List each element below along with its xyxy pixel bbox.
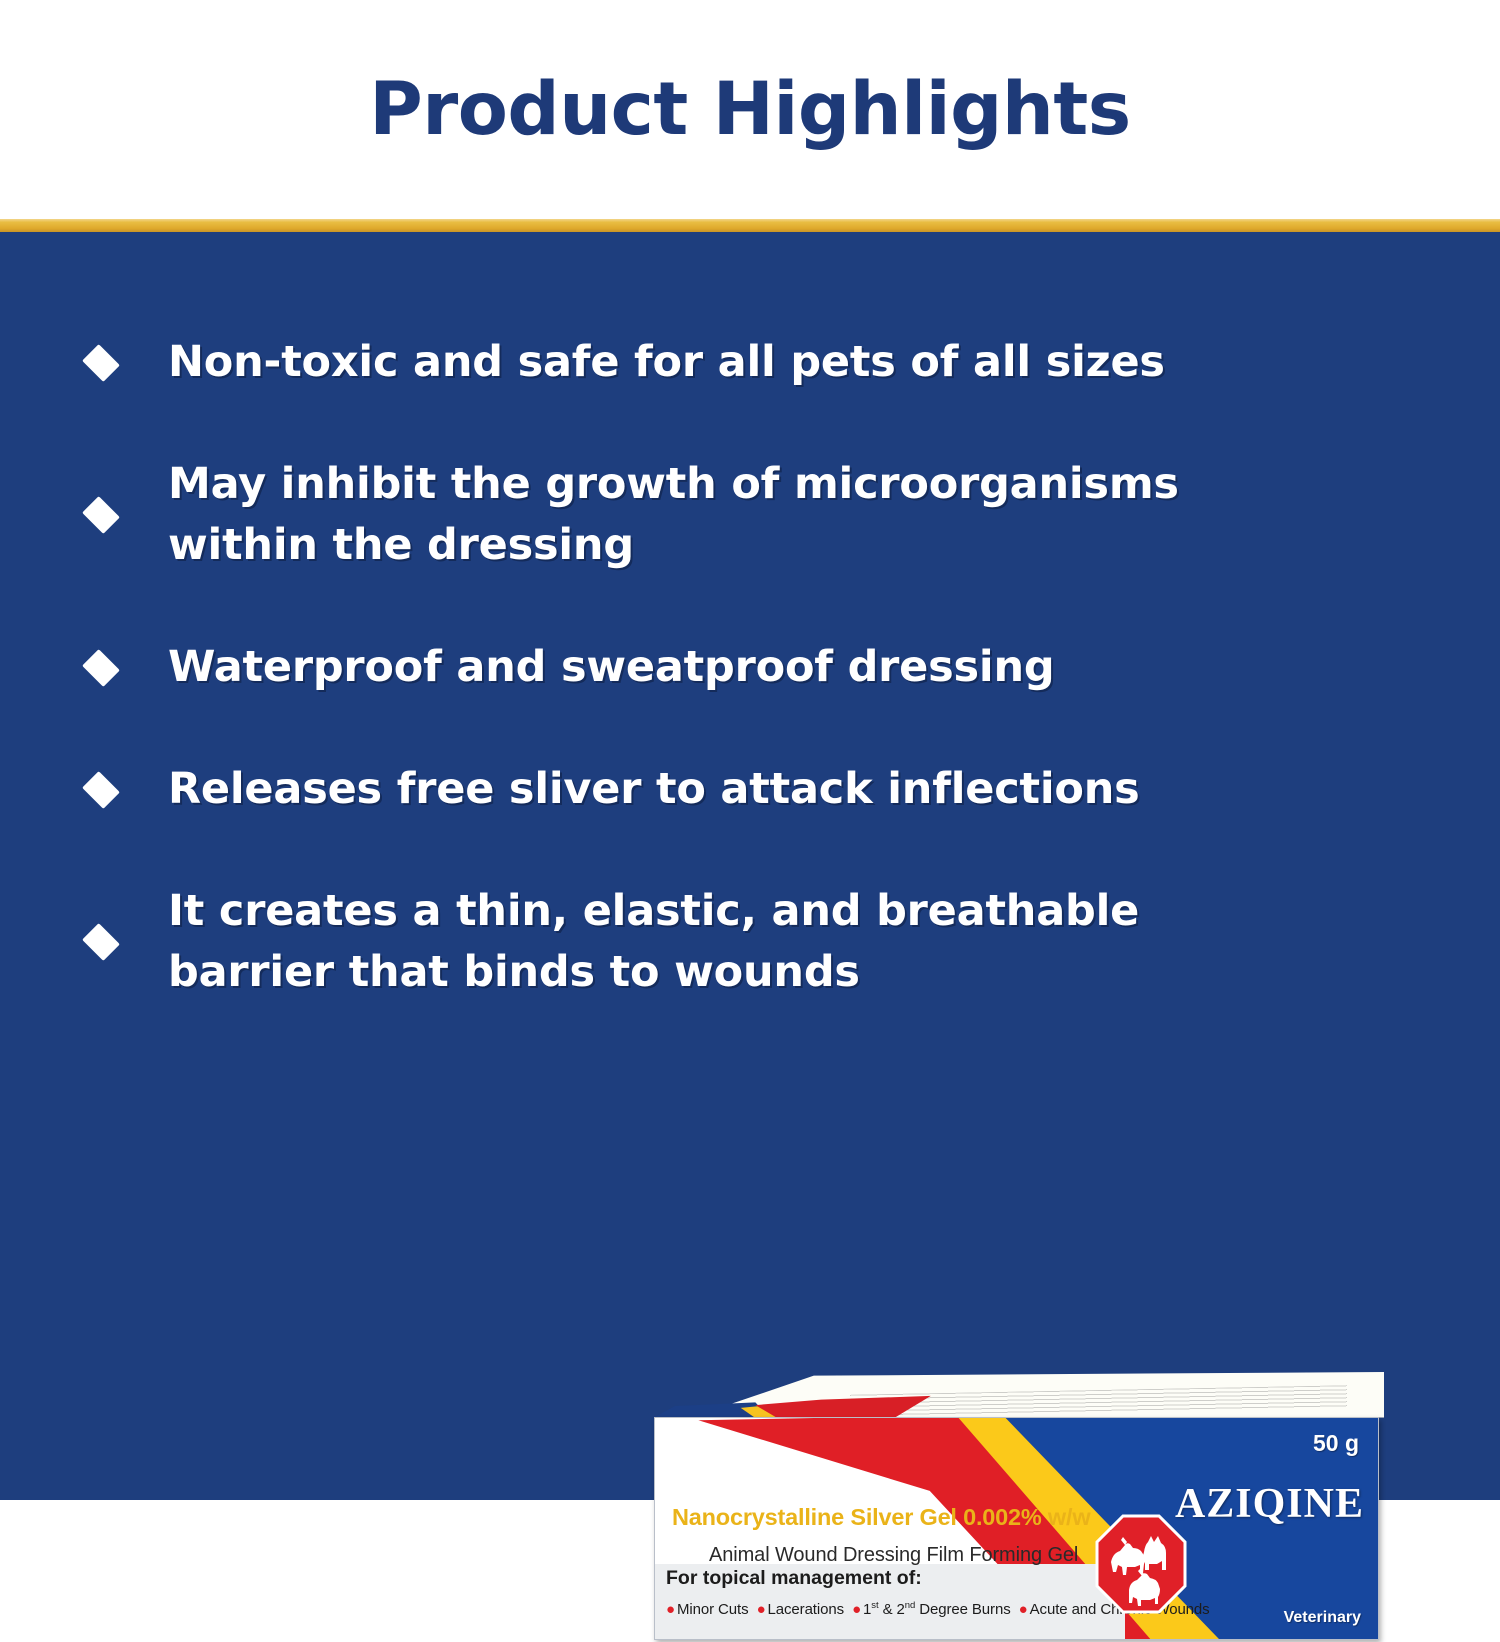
animal-emblem-icon xyxy=(1095,1514,1187,1614)
package-front-face: Nanocrystalline Silver Gel 0.002% w/w An… xyxy=(654,1417,1379,1640)
indication-label: Minor Cuts xyxy=(677,1601,749,1618)
package-category-label: Veterinary xyxy=(1284,1609,1361,1627)
highlight-line: May inhibit the growth of microorganisms xyxy=(168,454,1179,515)
highlight-line: barrier that binds to wounds xyxy=(168,942,1139,1003)
bullet-dot-icon: ● xyxy=(1015,1601,1030,1618)
diamond-bullet-icon xyxy=(82,496,120,534)
page-title: Product Highlights xyxy=(369,73,1130,146)
highlight-line: Non-toxic and safe for all pets of all s… xyxy=(168,332,1165,393)
highlights-list: Non-toxic and safe for all pets of all s… xyxy=(86,332,1386,1003)
bullet-dot-icon: ● xyxy=(666,1601,677,1618)
package-brand-name: AZIQINE xyxy=(1175,1480,1364,1528)
package-net-weight: 50 g xyxy=(1313,1430,1359,1457)
gold-divider xyxy=(0,219,1500,232)
highlights-panel: Non-toxic and safe for all pets of all s… xyxy=(0,232,1500,1500)
highlight-text: Waterproof and sweatproof dressing xyxy=(168,637,1054,698)
highlight-line: within the dressing xyxy=(168,515,1179,576)
diamond-bullet-icon xyxy=(82,771,120,809)
package-ingredient-text: Nanocrystalline Silver Gel 0.002% w/w xyxy=(672,1504,1090,1531)
highlight-text: It creates a thin, elastic, and breathab… xyxy=(168,881,1139,1003)
highlight-text: Non-toxic and safe for all pets of all s… xyxy=(168,332,1165,393)
package-top-face xyxy=(653,1372,1384,1418)
package-subtitle-text: Animal Wound Dressing Film Forming Gel xyxy=(709,1544,1078,1567)
highlight-text: Releases free sliver to attack inflectio… xyxy=(168,759,1140,820)
infographic-page: Product Highlights Non-toxic and safe fo… xyxy=(0,0,1500,1500)
package-topical-heading: For topical management of: xyxy=(666,1567,922,1590)
diamond-bullet-icon xyxy=(82,344,120,382)
list-item: Releases free sliver to attack inflectio… xyxy=(86,759,1386,820)
indication-item: ●1st & 2nd Degree Burns xyxy=(848,1601,1011,1618)
highlight-line: It creates a thin, elastic, and breathab… xyxy=(168,881,1139,942)
bullet-dot-icon: ● xyxy=(848,1601,863,1618)
diamond-bullet-icon xyxy=(82,923,120,961)
indication-label: 1st & 2nd Degree Burns xyxy=(863,1601,1011,1618)
indication-label: Lacerations xyxy=(768,1601,844,1618)
indication-item: ●Lacerations xyxy=(753,1601,844,1618)
bullet-dot-icon: ● xyxy=(753,1601,768,1618)
list-item: It creates a thin, elastic, and breathab… xyxy=(86,881,1386,1003)
diamond-bullet-icon xyxy=(82,649,120,687)
highlight-line: Waterproof and sweatproof dressing xyxy=(168,637,1054,698)
highlight-text: May inhibit the growth of microorganisms… xyxy=(168,454,1179,576)
indication-item: ●Minor Cuts xyxy=(666,1601,749,1618)
list-item: Non-toxic and safe for all pets of all s… xyxy=(86,332,1386,393)
header-band: Product Highlights xyxy=(0,0,1500,219)
list-item: May inhibit the growth of microorganisms… xyxy=(86,454,1386,576)
product-package: Nanocrystalline Silver Gel 0.002% w/w An… xyxy=(653,1372,1384,1642)
highlight-line: Releases free sliver to attack inflectio… xyxy=(168,759,1140,820)
list-item: Waterproof and sweatproof dressing xyxy=(86,637,1386,698)
